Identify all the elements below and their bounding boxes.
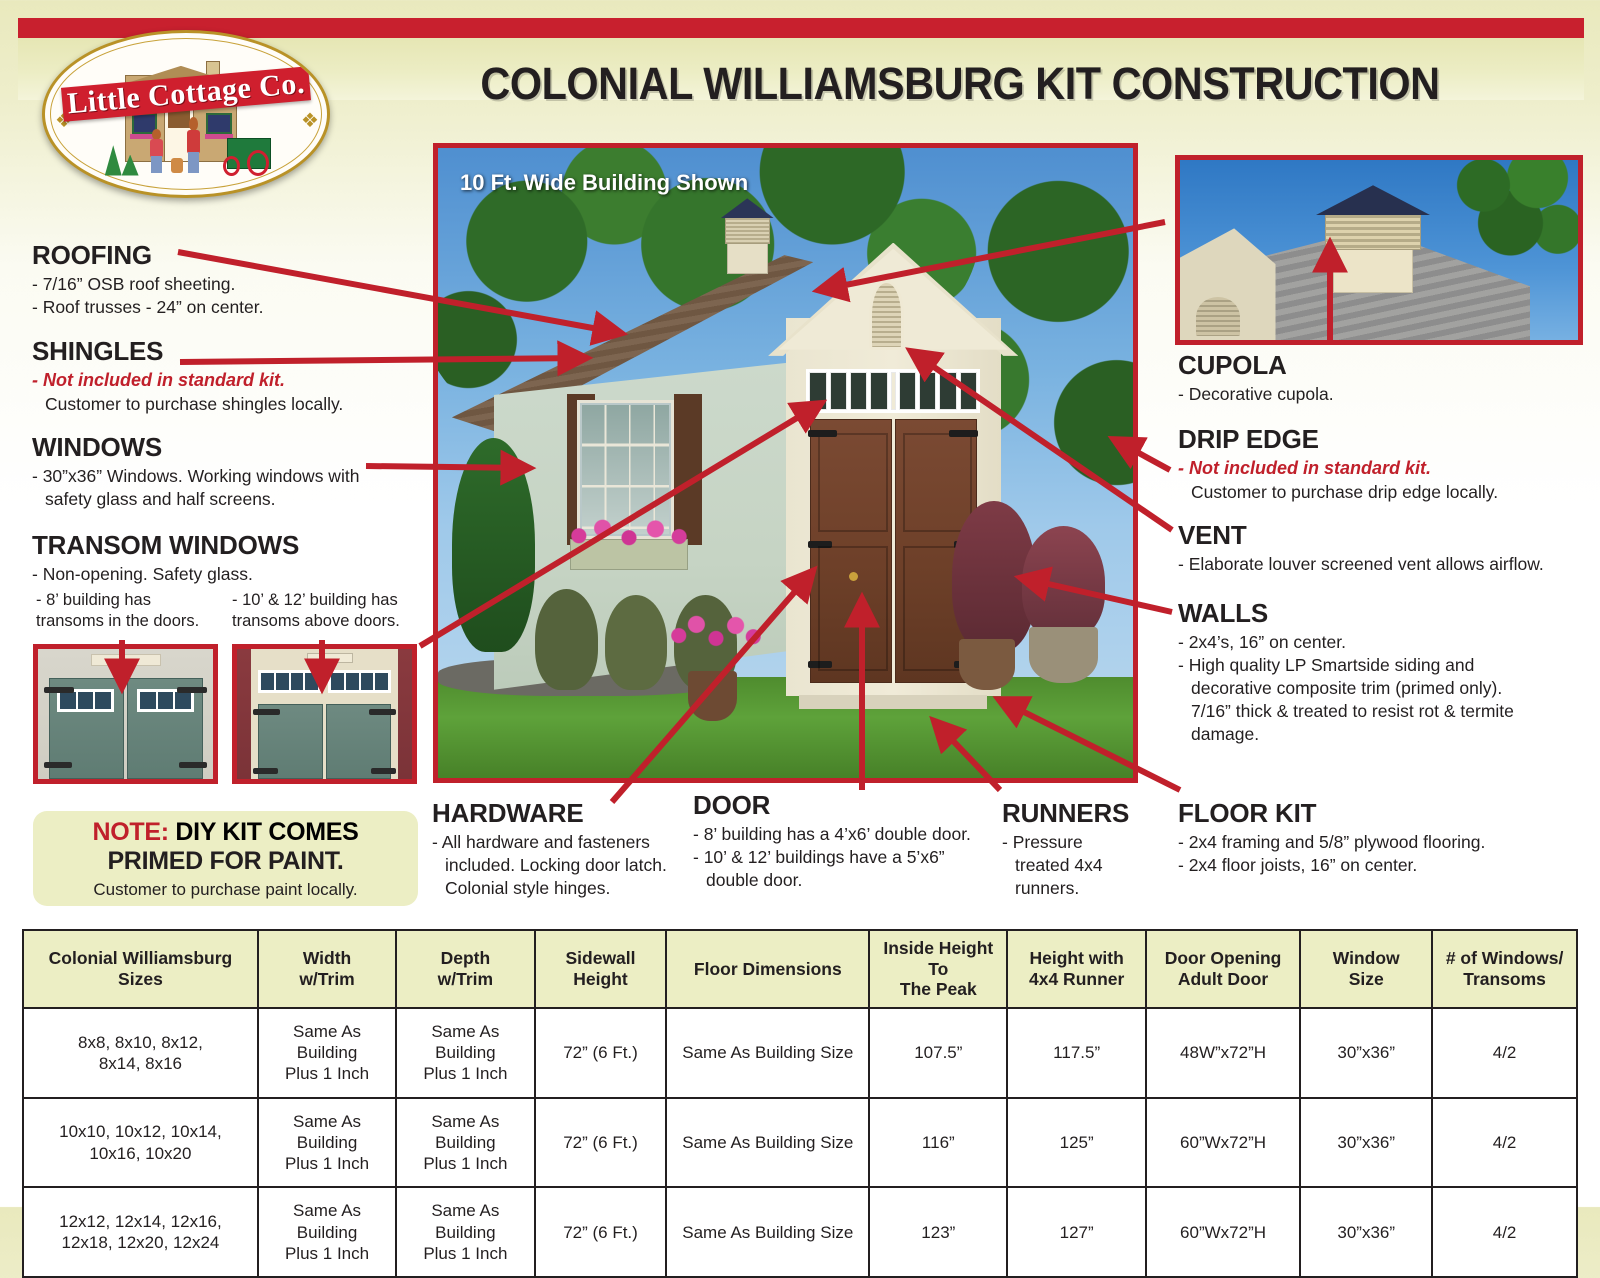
th-sidewall: SidewallHeight (535, 930, 667, 1008)
spec-walls-line-4: 7/16” thick & treated to resist rot & te… (1178, 700, 1590, 723)
page-title: COLONIAL WILLIAMSBURG KIT CONSTRUCTION (463, 58, 1457, 110)
note-subtext: Customer to purchase paint locally. (93, 880, 357, 900)
table-row: 8x8, 8x10, 8x12,8x14, 8x16 Same As Build… (23, 1008, 1577, 1098)
main-building-photo: 10 Ft. Wide Building Shown (433, 143, 1138, 783)
th-door-opening: Door OpeningAdult Door (1146, 930, 1300, 1008)
spec-walls-line-1: - 2x4’s, 16” on center. (1178, 631, 1590, 654)
spec-hardware-heading: HARDWARE (432, 798, 682, 829)
note-headline-line-1: NOTE: DIY KIT COMES (92, 818, 358, 847)
note-label: NOTE: (92, 818, 168, 846)
table-row: 12x12, 12x14, 12x16,12x18, 12x20, 12x24 … (23, 1187, 1577, 1277)
spec-floor-kit: FLOOR KIT - 2x4 framing and 5/8” plywood… (1178, 798, 1588, 877)
cell-window-size: 30”x36” (1300, 1187, 1432, 1277)
th-windows-transoms: # of Windows/Transoms (1432, 930, 1577, 1008)
spec-door-line-3: double door. (693, 869, 993, 892)
spec-roofing-line-2: - Roof trusses - 24” on center. (32, 296, 412, 319)
th-floor: Floor Dimensions (666, 930, 869, 1008)
transom-note-right: - 10’ & 12’ building has transoms above … (232, 590, 422, 633)
spec-floor-kit-line-1: - 2x4 framing and 5/8” plywood flooring. (1178, 831, 1588, 854)
double-door (810, 419, 977, 684)
spec-runners: RUNNERS - Pressure treated 4x4 runners. (1002, 798, 1152, 900)
th-runner-height: Height with4x4 Runner (1007, 930, 1145, 1008)
spec-floor-kit-line-2: - 2x4 floor joists, 16” on center. (1178, 854, 1588, 877)
spec-walls: WALLS - 2x4’s, 16” on center. - High qua… (1178, 598, 1590, 746)
note-box: NOTE: DIY KIT COMES PRIMED FOR PAINT. Cu… (33, 811, 418, 906)
spec-shingles-line-1: - Not included in standard kit. (32, 369, 412, 393)
cell-sizes: 12x12, 12x14, 12x16,12x18, 12x20, 12x24 (23, 1187, 258, 1277)
spec-floor-kit-heading: FLOOR KIT (1178, 798, 1588, 829)
cell-floor: Same As Building Size (666, 1187, 869, 1277)
top-red-bar (18, 18, 1584, 38)
spec-transom-heading: TRANSOM WINDOWS (32, 530, 422, 561)
spec-shingles-line-2: Customer to purchase shingles locally. (32, 393, 412, 416)
cell-window-size: 30”x36” (1300, 1008, 1432, 1098)
spec-vent-line-1: - Elaborate louver screened vent allows … (1178, 553, 1590, 576)
cell-door-opening: 60”Wx72”H (1146, 1187, 1300, 1277)
cell-depth: Same As BuildingPlus 1 Inch (396, 1098, 534, 1188)
cupola-inset-photo (1175, 155, 1583, 345)
company-logo: ❖ ❖ Little Cottage Co. (42, 30, 330, 198)
spec-roofing: ROOFING - 7/16” OSB roof sheeting. - Roo… (32, 240, 412, 319)
spec-drip-edge-heading: DRIP EDGE (1178, 424, 1588, 455)
spec-shingles-heading: SHINGLES (32, 336, 412, 367)
spec-door-line-1: - 8’ building has a 4’x6’ double door. (693, 823, 993, 846)
th-width: Widthw/Trim (258, 930, 396, 1008)
transom-in-doors-inset-photo (33, 644, 218, 784)
main-photo-caption: 10 Ft. Wide Building Shown (460, 170, 748, 196)
spec-cupola: CUPOLA - Decorative cupola. (1178, 350, 1588, 406)
spec-roofing-line-1: - 7/16” OSB roof sheeting. (32, 273, 412, 296)
cell-windows-transoms: 4/2 (1432, 1008, 1577, 1098)
logo-flourish-right-icon: ❖ (301, 108, 317, 134)
cell-windows-transoms: 4/2 (1432, 1187, 1577, 1277)
transom-note-left: - 8’ building has transoms in the doors. (36, 590, 216, 633)
spec-transom-line-1: - Non-opening. Safety glass. (32, 563, 422, 586)
th-window-size: WindowSize (1300, 930, 1432, 1008)
shed-illustration (438, 148, 1133, 778)
cell-peak: 107.5” (869, 1008, 1007, 1098)
th-depth: Depthw/Trim (396, 930, 534, 1008)
spec-drip-edge: DRIP EDGE - Not included in standard kit… (1178, 424, 1588, 504)
cell-sidewall: 72” (6 Ft.) (535, 1008, 667, 1098)
spec-runners-line-3: runners. (1002, 877, 1152, 900)
transom-above-doors-inset-photo (232, 644, 417, 784)
spec-drip-edge-line-1: - Not included in standard kit. (1178, 457, 1588, 481)
note-headline-rest: DIY KIT COMES (169, 818, 359, 846)
spec-roofing-heading: ROOFING (32, 240, 412, 271)
cell-sizes: 8x8, 8x10, 8x12,8x14, 8x16 (23, 1008, 258, 1098)
cell-runner-height: 117.5” (1007, 1008, 1145, 1098)
th-peak: Inside Height ToThe Peak (869, 930, 1007, 1008)
cell-windows-transoms: 4/2 (1432, 1098, 1577, 1188)
spec-windows-heading: WINDOWS (32, 432, 412, 463)
spec-door-line-2: - 10’ & 12’ buildings have a 5’x6” (693, 846, 993, 869)
cell-sizes: 10x10, 10x12, 10x14,10x16, 10x20 (23, 1098, 258, 1188)
spec-hardware-line-2: included. Locking door latch. (432, 854, 682, 877)
cell-depth: Same As BuildingPlus 1 Inch (396, 1187, 534, 1277)
cell-floor: Same As Building Size (666, 1098, 869, 1188)
cell-peak: 123” (869, 1187, 1007, 1277)
cell-runner-height: 125” (1007, 1098, 1145, 1188)
cell-peak: 116” (869, 1098, 1007, 1188)
spec-drip-edge-line-2: Customer to purchase drip edge locally. (1178, 481, 1588, 504)
transom-windows-row (806, 369, 980, 413)
th-sizes: Colonial WilliamsburgSizes (23, 930, 258, 1008)
cell-sidewall: 72” (6 Ft.) (535, 1098, 667, 1188)
cell-width: Same As BuildingPlus 1 Inch (258, 1187, 396, 1277)
cell-width: Same As BuildingPlus 1 Inch (258, 1008, 396, 1098)
spec-windows-line-2: safety glass and half screens. (32, 488, 412, 511)
spec-walls-heading: WALLS (1178, 598, 1590, 629)
spec-transom-windows: TRANSOM WINDOWS - Non-opening. Safety gl… (32, 530, 422, 586)
cell-floor: Same As Building Size (666, 1008, 869, 1098)
cell-depth: Same As BuildingPlus 1 Inch (396, 1008, 534, 1098)
spec-door-heading: DOOR (693, 790, 993, 821)
spec-runners-heading: RUNNERS (1002, 798, 1152, 829)
cell-door-opening: 60”Wx72”H (1146, 1098, 1300, 1188)
cell-sidewall: 72” (6 Ft.) (535, 1187, 667, 1277)
note-headline-line-2: PRIMED FOR PAINT. (107, 847, 343, 876)
spec-windows-line-1: - 30”x36” Windows. Working windows with (32, 465, 412, 488)
table-header-row: Colonial WilliamsburgSizes Widthw/Trim D… (23, 930, 1577, 1008)
cell-door-opening: 48W”x72”H (1146, 1008, 1300, 1098)
spec-cupola-heading: CUPOLA (1178, 350, 1588, 381)
cell-window-size: 30”x36” (1300, 1098, 1432, 1188)
spec-walls-line-3: decorative composite trim (primed only). (1178, 677, 1590, 700)
spec-hardware: HARDWARE - All hardware and fasteners in… (432, 798, 682, 900)
table-row: 10x10, 10x12, 10x14,10x16, 10x20 Same As… (23, 1098, 1577, 1188)
gable-vent (869, 280, 904, 349)
spec-vent-heading: VENT (1178, 520, 1590, 551)
spec-runners-line-2: treated 4x4 (1002, 854, 1152, 877)
spec-walls-line-5: damage. (1178, 723, 1590, 746)
spec-hardware-line-3: Colonial style hinges. (432, 877, 682, 900)
spec-cupola-line-1: - Decorative cupola. (1178, 383, 1588, 406)
cupola-on-roof (723, 198, 772, 274)
spec-vent: VENT - Elaborate louver screened vent al… (1178, 520, 1590, 576)
cell-width: Same As BuildingPlus 1 Inch (258, 1098, 396, 1188)
spec-runners-line-1: - Pressure (1002, 831, 1152, 854)
spec-hardware-line-1: - All hardware and fasteners (432, 831, 682, 854)
spec-windows: WINDOWS - 30”x36” Windows. Working windo… (32, 432, 412, 511)
spec-door: DOOR - 8’ building has a 4’x6’ double do… (693, 790, 993, 892)
spec-shingles: SHINGLES - Not included in standard kit.… (32, 336, 412, 416)
specifications-table: Colonial WilliamsburgSizes Widthw/Trim D… (22, 929, 1578, 1278)
spec-walls-line-2: - High quality LP Smartside siding and (1178, 654, 1590, 677)
cell-runner-height: 127” (1007, 1187, 1145, 1277)
